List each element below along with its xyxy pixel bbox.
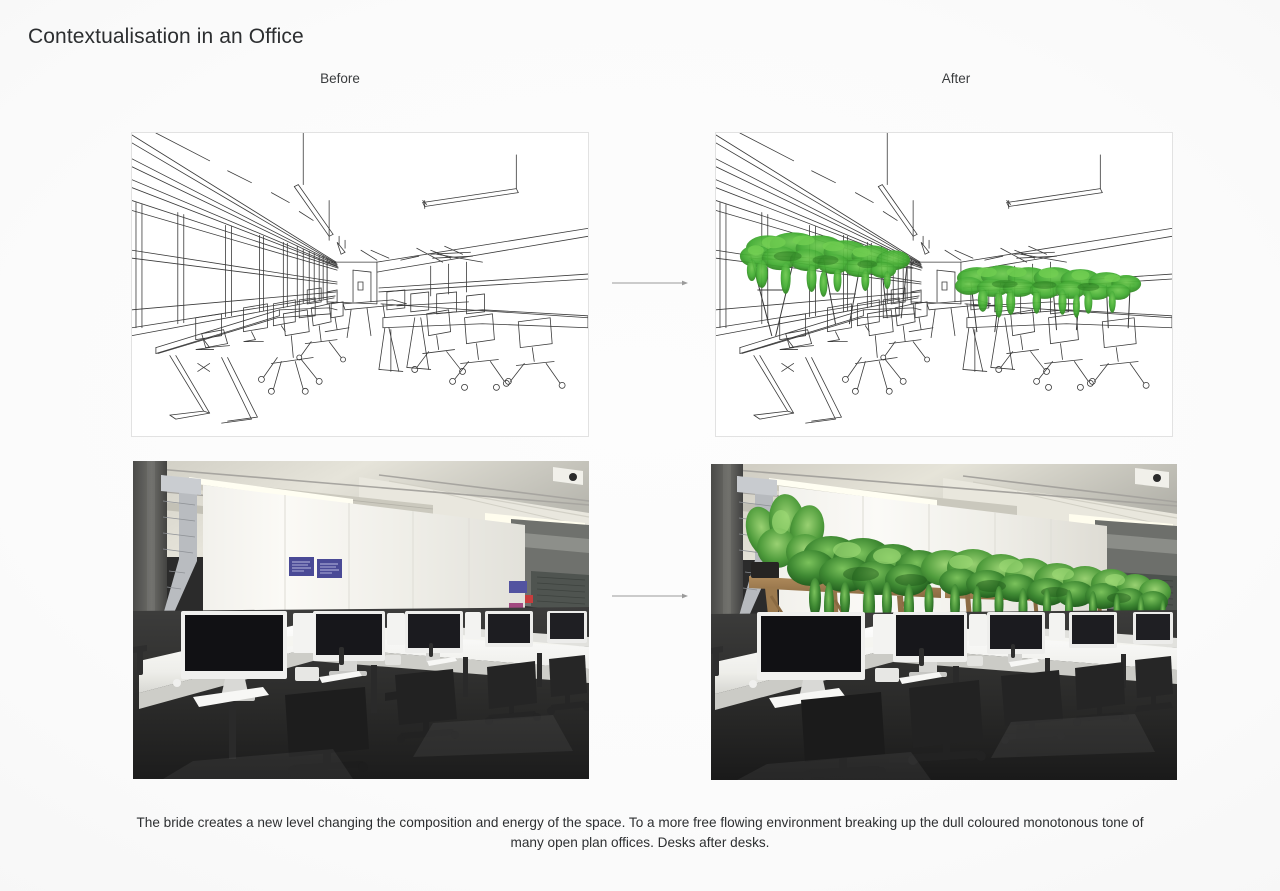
photograph-after [711, 464, 1177, 780]
line-drawing-after [715, 132, 1173, 437]
drawing-panel-before [131, 132, 589, 437]
imac-4 [485, 611, 533, 647]
wall-notice-left [289, 557, 314, 576]
imac-4 [1069, 612, 1117, 648]
imac-5 [547, 611, 587, 643]
caption-text: The bride creates a new level changing t… [130, 813, 1150, 854]
line-drawing-before [131, 132, 589, 437]
drawing-panel-after [715, 132, 1173, 437]
photo-panel-after [711, 464, 1177, 780]
column-label-after: After [896, 71, 1016, 86]
column-label-before: Before [280, 71, 400, 86]
page-title: Contextualisation in an Office [28, 25, 304, 49]
task-chair-3 [485, 661, 541, 725]
before-to-after-arrow-bottom [612, 591, 688, 601]
wall-notice-right [317, 559, 342, 578]
imac-5 [1133, 612, 1173, 644]
task-chair-4 [547, 655, 589, 715]
photograph-before [133, 461, 589, 779]
photo-panel-before [133, 461, 589, 779]
before-to-after-arrow-top [612, 278, 688, 288]
